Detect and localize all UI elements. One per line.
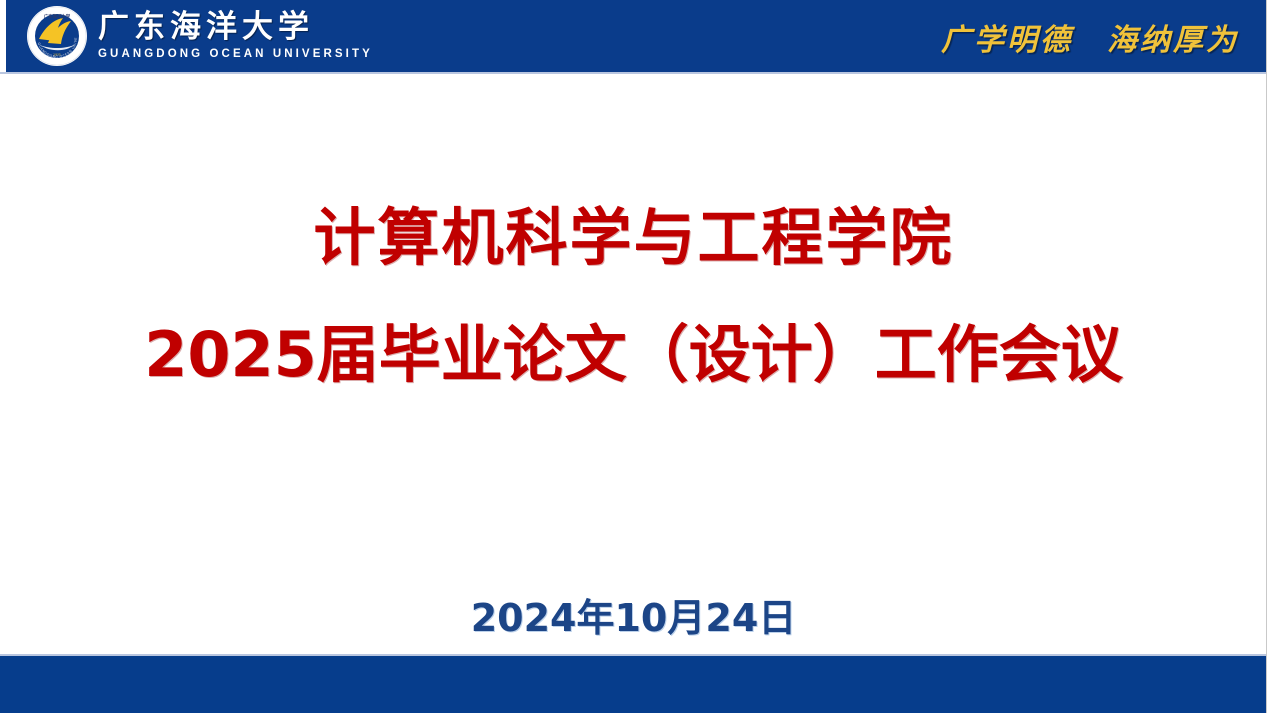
presentation-slide: 广东海洋大学 1935 GUANGDONG OCEAN UNIVERSITY 广…: [0, 0, 1267, 713]
slide-body: 计算机科学与工程学院 2025届毕业论文（设计）工作会议 2024年10月24日: [0, 74, 1267, 655]
university-logo-lockup: 广东海洋大学 1935 GUANGDONG OCEAN UNIVERSITY 广…: [26, 5, 373, 67]
header-left-edge-strip: [0, 0, 6, 72]
slide-date: 2024年10月24日: [0, 587, 1267, 642]
university-name-en: GUANGDONG OCEAN UNIVERSITY: [98, 49, 373, 61]
motto-phrase-1: 广学明德: [941, 15, 1073, 59]
university-crest-icon: 广东海洋大学 1935 GUANGDONG OCEAN UNIVERSITY: [26, 5, 88, 67]
header-band: 广东海洋大学 1935 GUANGDONG OCEAN UNIVERSITY 广…: [0, 0, 1267, 72]
university-motto: 广学明德 海纳厚为: [941, 14, 1239, 60]
university-wordmark: 广东海洋大学 GUANGDONG OCEAN UNIVERSITY: [98, 5, 373, 67]
slide-date-block: 2024年10月24日: [0, 587, 1267, 642]
motto-phrase-2: 海纳厚为: [1107, 15, 1239, 59]
slide-title-line-1: 计算机科学与工程学院: [0, 202, 1267, 273]
svg-text:广东海洋大学: 广东海洋大学: [44, 13, 71, 20]
slide-title-line-2: 2025届毕业论文（设计）工作会议: [0, 319, 1267, 390]
slide-title-block: 计算机科学与工程学院 2025届毕业论文（设计）工作会议: [0, 202, 1267, 391]
university-name-cn: 广东海洋大学: [98, 12, 373, 43]
footer-band: [0, 656, 1267, 713]
